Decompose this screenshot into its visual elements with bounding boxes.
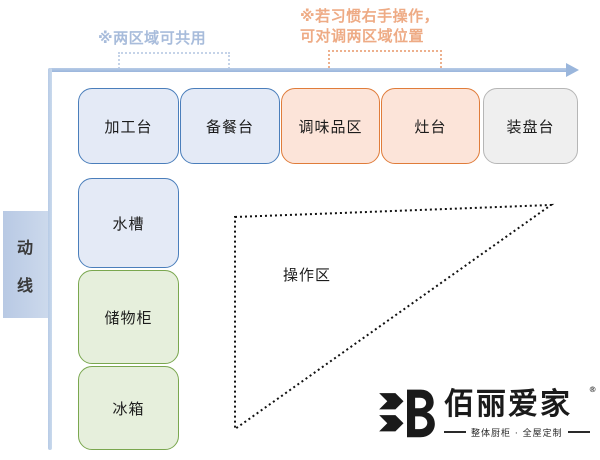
flow-axis-arrow-icon — [566, 63, 579, 77]
flow-axis-horizontal — [48, 68, 570, 72]
flow-axis-vertical — [48, 68, 52, 450]
bracket-hbar — [118, 52, 230, 54]
zone-beicantai[interactable]: 备餐台 — [180, 88, 280, 164]
zone-shuicao[interactable]: 水槽 — [78, 178, 179, 268]
zone-bingxiang[interactable]: 冰箱 — [78, 366, 179, 450]
zone-jiagongtai[interactable]: 加工台 — [78, 88, 179, 164]
diagram-canvas: ※两区域可共用 ※若习惯右手操作， 可对调两区域位置 动 线 加工台 备餐台 调… — [0, 0, 600, 460]
logo-brand-name-text: 佰丽爱家 — [444, 387, 572, 422]
logo-b-mark-icon — [378, 385, 436, 443]
logo-rule-right — [568, 431, 590, 433]
annotation-shared-zones: ※两区域可共用 — [98, 28, 206, 48]
annotation-swap-zones: ※若习惯右手操作， 可对调两区域位置 — [300, 6, 439, 47]
flow-line-label-char1: 动 — [17, 234, 34, 258]
bracket-hbar — [328, 50, 442, 52]
zone-chuwugui[interactable]: 储物柜 — [78, 270, 179, 364]
zone-zhuangpantai[interactable]: 装盘台 — [483, 88, 578, 164]
zone-tiaoweipinqu[interactable]: 调味品区 — [281, 88, 380, 164]
flow-line-label: 动 线 — [3, 211, 48, 318]
logo-tagline-row: 整体厨柜 · 全屋定制 — [444, 426, 590, 439]
logo-registered-icon: ® — [589, 386, 599, 394]
zone-zaotai[interactable]: 灶台 — [381, 88, 480, 164]
logo-rule-left — [444, 431, 466, 433]
brand-logo: 佰丽爱家 ® 整体厨柜 · 全屋定制 — [378, 378, 590, 450]
work-triangle-label: 操作区 — [283, 264, 331, 285]
flow-line-label-char2: 线 — [17, 272, 34, 296]
logo-tagline: 整体厨柜 · 全屋定制 — [471, 426, 563, 439]
logo-text-block: 佰丽爱家 ® 整体厨柜 · 全屋定制 — [444, 390, 590, 439]
logo-brand-name: 佰丽爱家 ® — [444, 390, 590, 420]
